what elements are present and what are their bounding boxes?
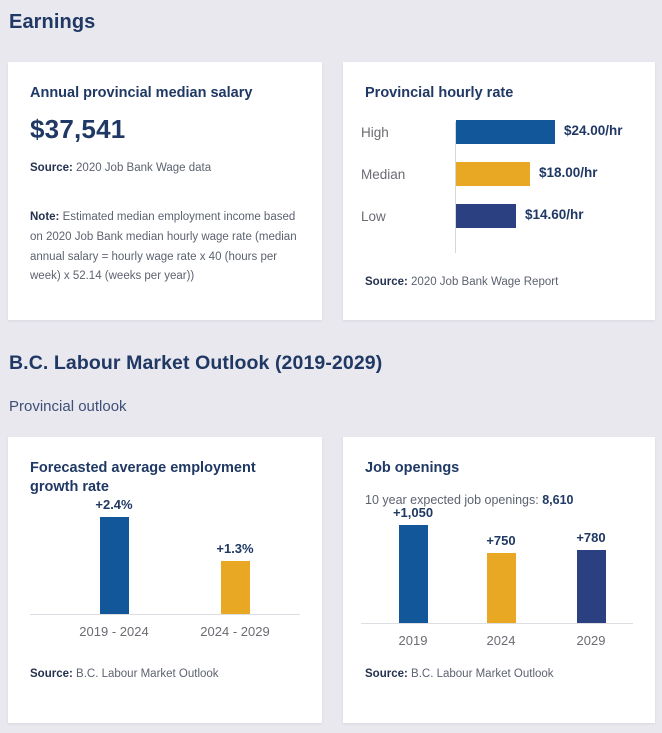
chart-provincial-hourly-rate: High$24.00/hrMedian$18.00/hrLow$14.60/hr (343, 114, 655, 259)
card-title-provincial-hourly-rate: Provincial hourly rate (365, 84, 513, 103)
job-openings-value-label: +780 (546, 530, 636, 545)
card-provincial-hourly-rate: Provincial hourly rate High$24.00/hrMedi… (343, 62, 655, 320)
card-title-annual-median-salary: Annual provincial median salary (30, 84, 252, 103)
infographic-page: Earnings Annual provincial median salary… (0, 0, 662, 733)
job-openings-lead-value: 8,610 (542, 493, 573, 507)
hourly-source-label: Source: (365, 276, 408, 288)
job-openings-category-label: 2029 (531, 633, 651, 648)
hourly-rate-category-label: High (361, 125, 389, 140)
growth-source-line: Source: B.C. Labour Market Outlook (30, 666, 219, 684)
card-forecasted-growth-rate: Forecasted average employment growth rat… (8, 437, 322, 723)
salary-note-label: Note: (30, 211, 59, 223)
openings-source-line: Source: B.C. Labour Market Outlook (365, 666, 554, 684)
chart-baseline (361, 623, 633, 624)
hourly-rate-value-label: $14.60/hr (525, 207, 584, 222)
hourly-rate-category-label: Median (361, 167, 405, 182)
salary-source-line: Source: 2020 Job Bank Wage data (30, 160, 211, 178)
hourly-rate-value-label: $24.00/hr (564, 123, 623, 138)
hourly-rate-bar (456, 204, 516, 228)
salary-source-text: 2020 Job Bank Wage data (73, 162, 211, 174)
openings-source-label: Source: (365, 668, 408, 680)
openings-source-text: B.C. Labour Market Outlook (408, 668, 554, 680)
hourly-rate-bar-fill (456, 120, 555, 144)
job-openings-value-label: +750 (456, 533, 546, 548)
card-title-job-openings: Job openings (365, 459, 459, 478)
hourly-rate-bar-fill (456, 204, 516, 228)
growth-rate-bar (100, 517, 129, 614)
card-title-forecasted-growth-rate: Forecasted average employment growth rat… (30, 459, 290, 498)
section-title-earnings: Earnings (9, 11, 95, 34)
hourly-rate-category-label: Low (361, 209, 386, 224)
hourly-rate-bar (456, 120, 555, 144)
hourly-rate-row: Median$18.00/hr (343, 156, 655, 198)
salary-note-line: Note: Estimated median employment income… (30, 208, 308, 287)
salary-note-text: Estimated median employment income based… (30, 211, 297, 282)
job-openings-bar (399, 525, 428, 623)
hourly-rate-row: High$24.00/hr (343, 114, 655, 156)
salary-source-label: Source: (30, 162, 73, 174)
growth-rate-value-label: +1.3% (190, 541, 280, 556)
hourly-rate-bar-fill (456, 162, 530, 186)
growth-source-label: Source: (30, 668, 73, 680)
card-job-openings: Job openings 10 year expected job openin… (343, 437, 655, 723)
job-openings-bar (487, 553, 516, 623)
growth-source-text: B.C. Labour Market Outlook (73, 668, 219, 680)
chart-forecasted-growth-rate: +2.4%2019 - 2024+1.3%2024 - 2029 (8, 517, 322, 632)
hourly-rate-value-label: $18.00/hr (539, 165, 598, 180)
section-title-labour-market-outlook: B.C. Labour Market Outlook (2019-2029) (9, 352, 382, 375)
growth-rate-category-label: 2024 - 2029 (175, 624, 295, 639)
hourly-source-text: 2020 Job Bank Wage Report (408, 276, 558, 288)
growth-rate-value-label: +2.4% (69, 497, 159, 512)
card-annual-median-salary: Annual provincial median salary $37,541 … (8, 62, 322, 320)
hourly-source-line: Source: 2020 Job Bank Wage Report (365, 274, 558, 292)
growth-rate-bar (221, 561, 250, 614)
job-openings-value-label: +1,050 (368, 505, 458, 520)
hourly-rate-row: Low$14.60/hr (343, 198, 655, 240)
chart-job-openings: +1,0502019+7502024+7802029 (343, 525, 655, 640)
chart-baseline (30, 614, 300, 615)
annual-median-salary-value: $37,541 (30, 114, 125, 145)
growth-rate-category-label: 2019 - 2024 (54, 624, 174, 639)
job-openings-bar (577, 550, 606, 623)
section-subtitle-provincial-outlook: Provincial outlook (9, 398, 127, 415)
hourly-rate-bar (456, 162, 530, 186)
